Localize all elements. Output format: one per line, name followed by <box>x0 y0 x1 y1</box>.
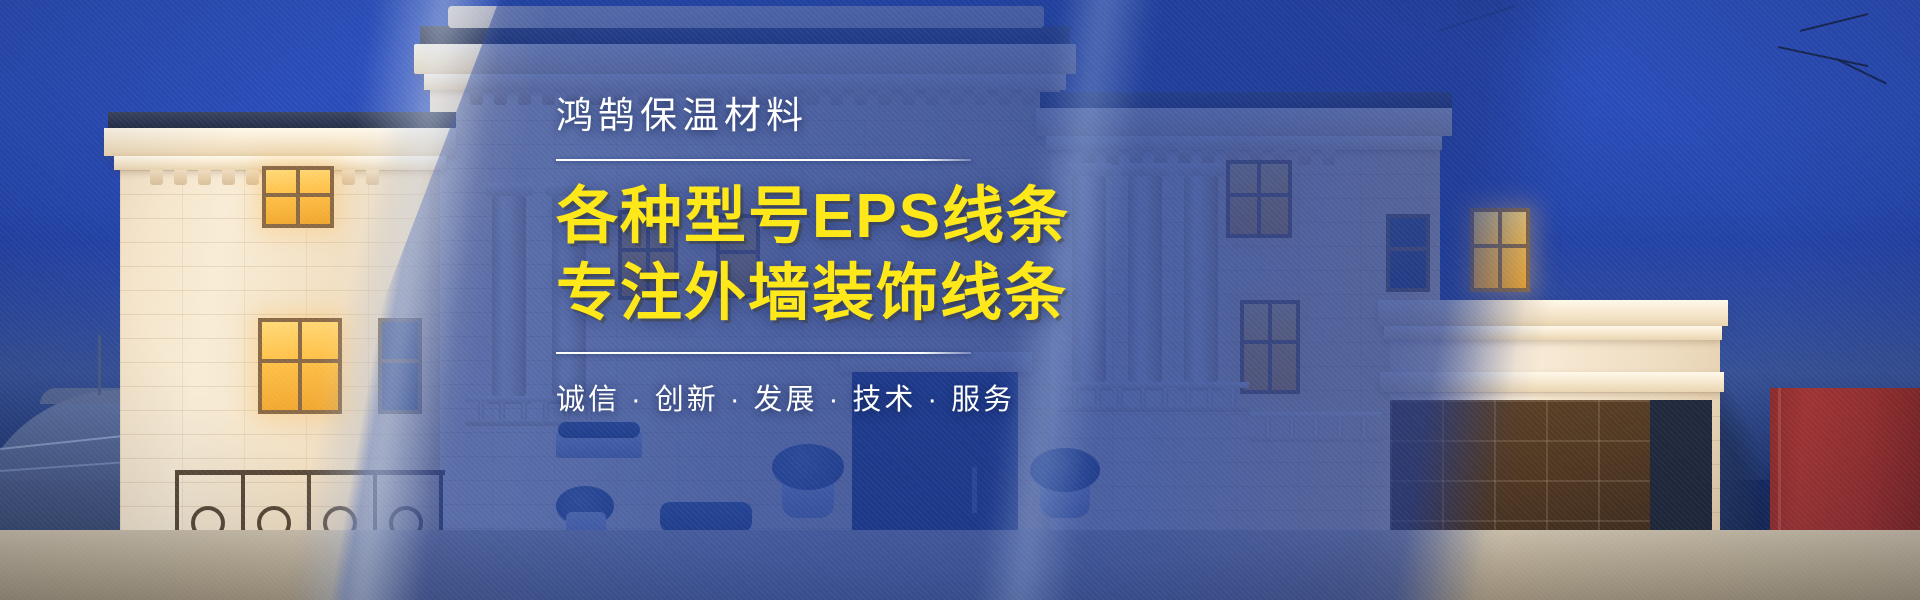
headline-line-2: 专注外墙装饰线条 <box>556 256 1456 333</box>
divider-top <box>556 159 971 161</box>
headline-group: 各种型号EPS线条 专注外墙装饰线条 <box>556 179 1456 333</box>
divider-bottom <box>556 352 971 354</box>
banner-copy: 鸿鹄保温材料 各种型号EPS线条 专注外墙装饰线条 诚信 · 创新 · 发展 ·… <box>556 96 1456 418</box>
brand-name: 鸿鹄保温材料 <box>556 96 1456 137</box>
headline-line-1: 各种型号EPS线条 <box>556 179 1456 256</box>
hero-banner: 鸿鹄保温材料 各种型号EPS线条 专注外墙装饰线条 诚信 · 创新 · 发展 ·… <box>0 0 1920 600</box>
tagline: 诚信 · 创新 · 发展 · 技术 · 服务 <box>556 376 1456 418</box>
